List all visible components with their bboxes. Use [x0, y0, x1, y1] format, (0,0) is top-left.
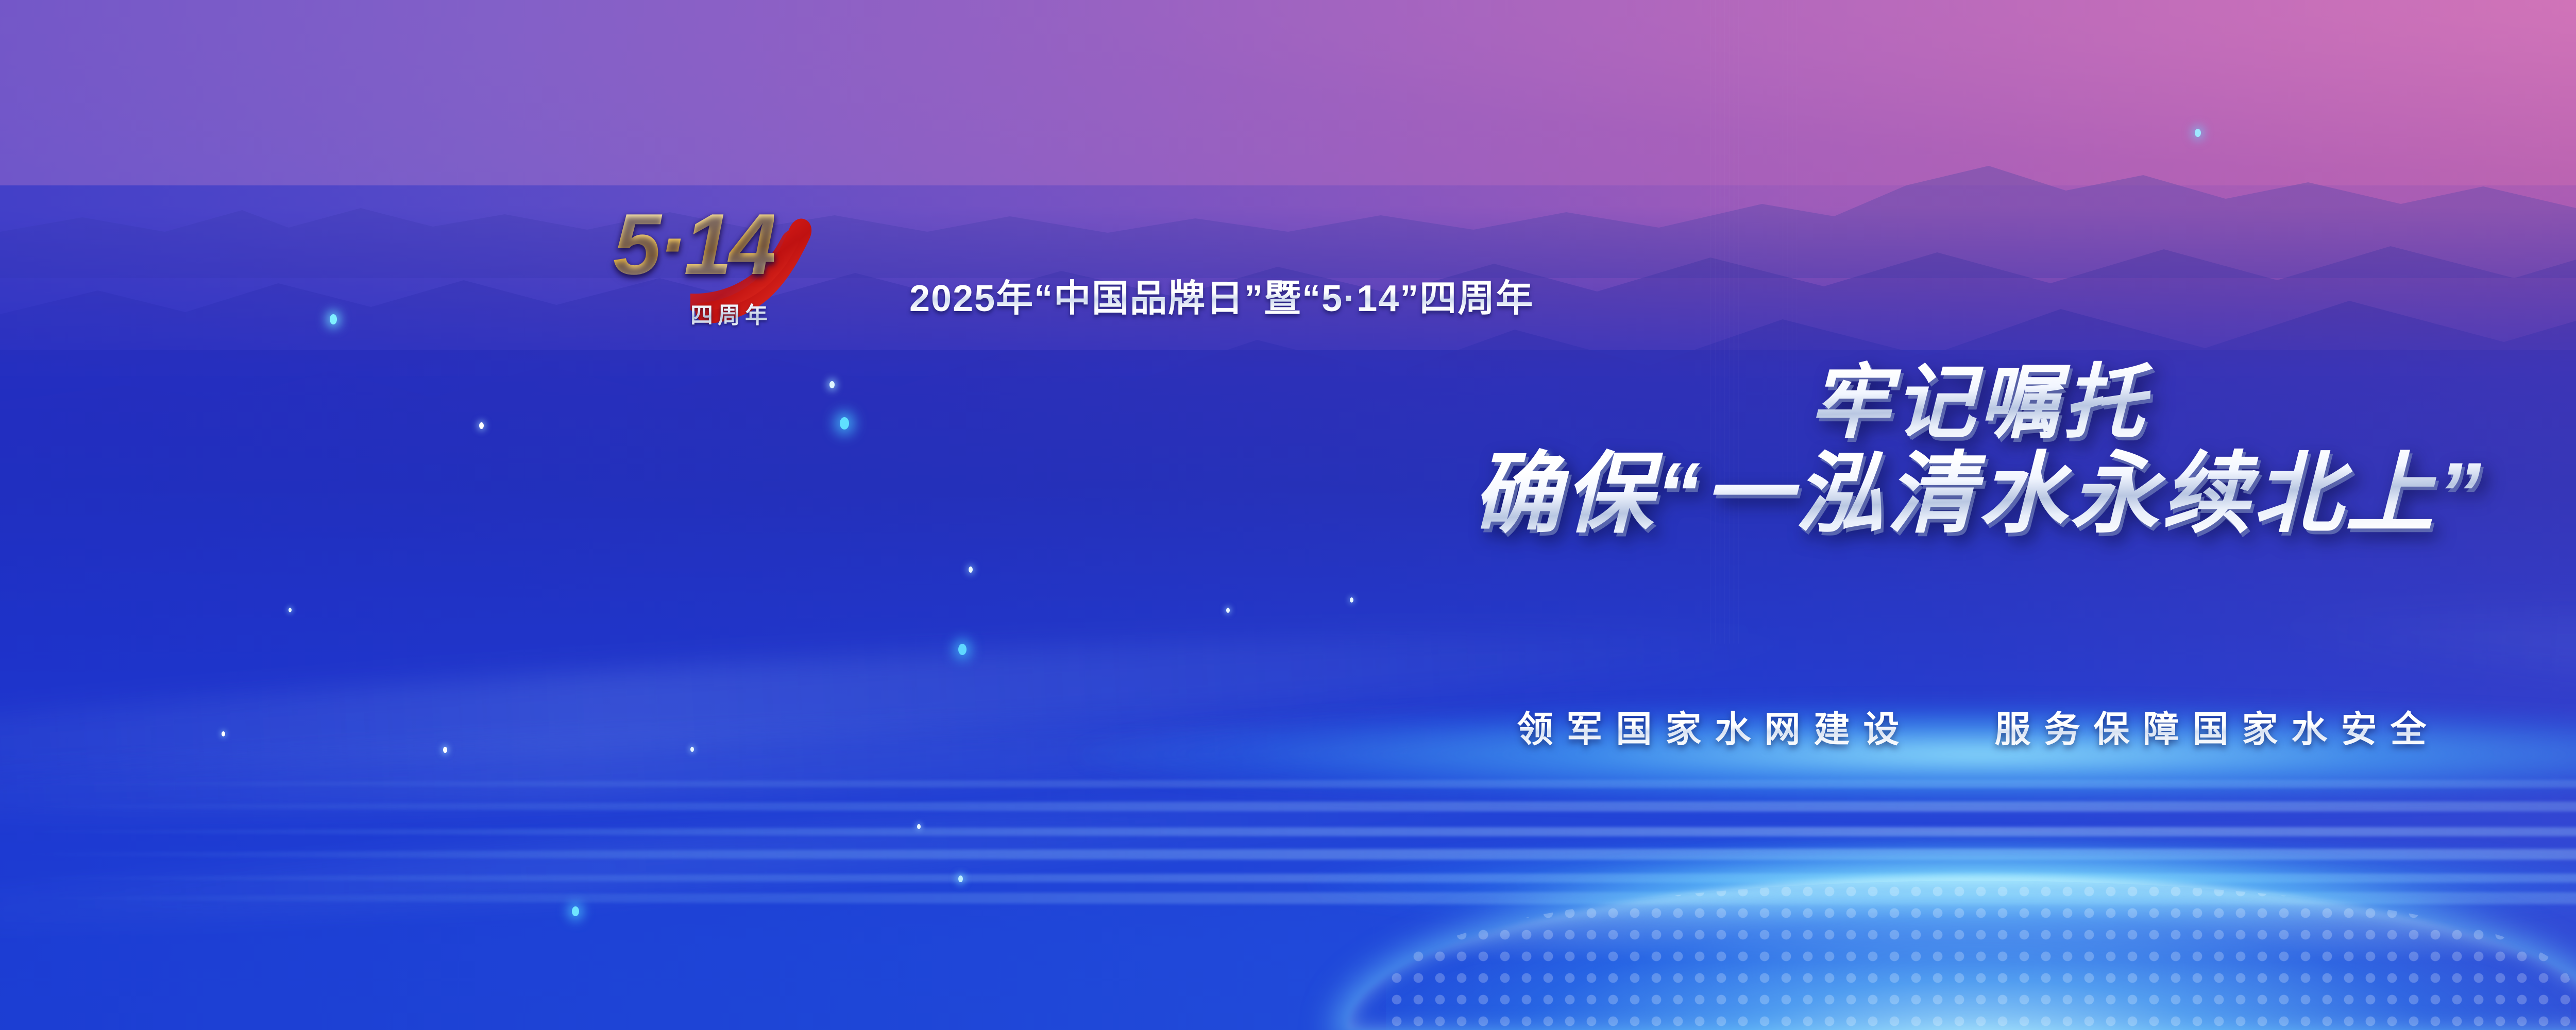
event-headline: 2025年“中国品牌日”暨“5·14”四周年 — [909, 268, 1534, 322]
anniversary-logo-514: 5·14 四周年 — [613, 201, 829, 340]
main-title: 牢记嘱托 确保“一泓清水永续北上” — [0, 360, 2576, 541]
main-title-line-2: 确保“一泓清水永续北上” — [0, 447, 2576, 541]
subtitle-left: 领军国家水网建设 — [1517, 700, 1913, 752]
banner-canvas: 5·14 四周年 2025年“中国品牌日”暨“5·14”四周年 — [0, 0, 2576, 1030]
banner-content: 5·14 四周年 2025年“中国品牌日”暨“5·14”四周年 — [0, 0, 2576, 1030]
main-title-line-1: 牢记嘱托 — [0, 360, 2576, 445]
subtitle: 领军国家水网建设 服务保障国家水安全 — [0, 700, 2576, 752]
subtitle-right: 服务保障国家水安全 — [1994, 700, 2439, 752]
logo-number: 5·14 — [613, 201, 774, 287]
logo-anniversary-label: 四周年 — [690, 297, 772, 330]
